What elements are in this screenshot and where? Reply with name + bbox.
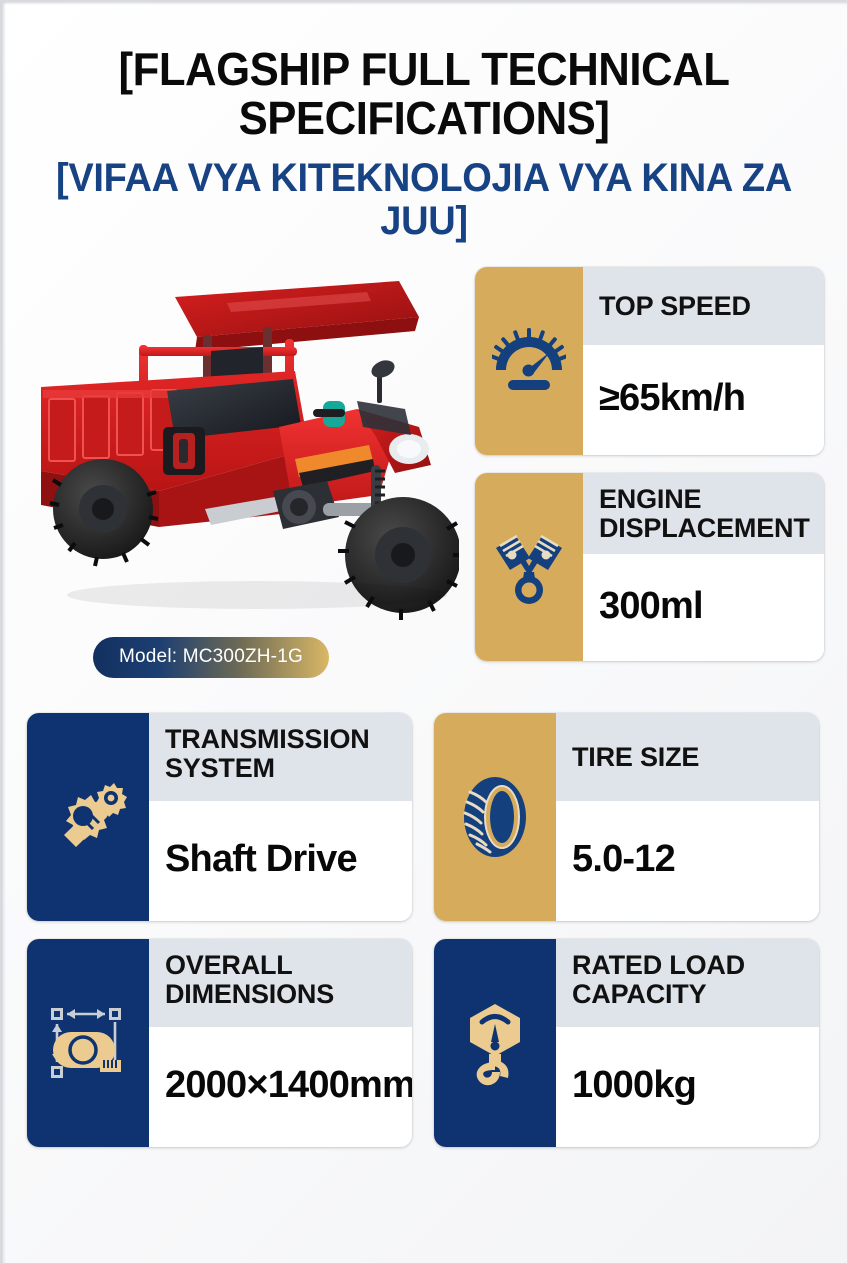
spec-card-top-speed[interactable]: TOP SPEED ≥65km/h: [475, 267, 824, 455]
spec-card-body: TOP SPEED ≥65km/h: [583, 267, 824, 455]
spec-cards-top-column: TOP SPEED ≥65km/h: [475, 259, 824, 661]
spec-icon-panel: [27, 713, 149, 921]
spec-label: ENGINE DISPLACEMENT: [583, 473, 824, 554]
spec-icon-panel: [434, 713, 556, 921]
tire-icon: [456, 774, 534, 860]
tape-measure-icon: [45, 1002, 131, 1084]
spec-card-overall-dimensions[interactable]: OVERALL DIMENSIONS 2000×1400mm: [27, 939, 412, 1147]
cargo-tricycle-illustration: [27, 259, 459, 659]
spec-card-body: ENGINE DISPLACEMENT 300ml: [583, 473, 824, 661]
spec-card-body: OVERALL DIMENSIONS 2000×1400mm: [149, 939, 412, 1147]
spec-value: ≥65km/h: [583, 345, 824, 455]
spec-value: Shaft Drive: [149, 801, 412, 921]
page-title-swahili: [VIFAA VYA KITEKNOLOJIA VYA KINA ZA JUU]: [54, 157, 793, 243]
spec-value: 1000kg: [556, 1027, 819, 1147]
spec-card-body: RATED LOAD CAPACITY 1000kg: [556, 939, 819, 1147]
spec-label: RATED LOAD CAPACITY: [556, 939, 819, 1027]
spec-card-engine-displacement[interactable]: ENGINE DISPLACEMENT 300ml: [475, 473, 824, 661]
product-hero: Model: MC300ZH-1G: [27, 259, 459, 689]
piston-engine-icon: [490, 528, 568, 606]
spec-card-body: TIRE SIZE 5.0-12: [556, 713, 819, 921]
spec-card-transmission-system[interactable]: TRANSMISSION SYSTEM Shaft Drive: [27, 713, 412, 921]
speedometer-icon: [492, 324, 566, 398]
spec-label: TIRE SIZE: [556, 713, 819, 801]
spec-card-rated-load-capacity[interactable]: RATED LOAD CAPACITY 1000kg: [434, 939, 819, 1147]
spec-cards-grid: TRANSMISSION SYSTEM Shaft Drive: [1, 689, 847, 1171]
spec-card-body: TRANSMISSION SYSTEM Shaft Drive: [149, 713, 412, 921]
spec-icon-panel: [27, 939, 149, 1147]
spec-icon-panel: [475, 267, 583, 455]
spec-value: 5.0-12: [556, 801, 819, 921]
spec-label: OVERALL DIMENSIONS: [149, 939, 412, 1027]
spec-value: 300ml: [583, 554, 824, 661]
page-title-english: [FLAGSHIP FULL TECHNICAL SPECIFICATIONS]: [54, 45, 793, 143]
crane-hook-icon: [458, 1000, 532, 1086]
spec-card-tire-size[interactable]: TIRE SIZE 5.0-12: [434, 713, 819, 921]
top-section: Model: MC300ZH-1G: [1, 249, 847, 689]
infographic-page: [FLAGSHIP FULL TECHNICAL SPECIFICATIONS]…: [0, 0, 848, 1264]
spec-value: 2000×1400mm: [149, 1027, 412, 1147]
spec-icon-panel: [475, 473, 583, 661]
header-block: [FLAGSHIP FULL TECHNICAL SPECIFICATIONS]…: [1, 1, 847, 249]
product-image: [27, 259, 459, 689]
gears-shaft-icon: [48, 777, 128, 857]
spec-icon-panel: [434, 939, 556, 1147]
model-badge: Model: MC300ZH-1G: [93, 637, 329, 678]
spec-label: TOP SPEED: [583, 267, 824, 345]
spec-label: TRANSMISSION SYSTEM: [149, 713, 412, 801]
